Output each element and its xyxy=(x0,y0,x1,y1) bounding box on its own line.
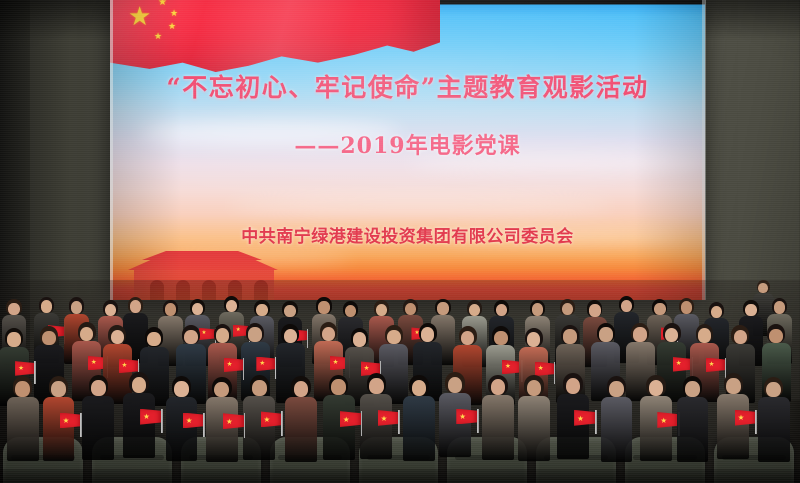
flag-cloth: ★ xyxy=(340,411,362,427)
flag-pole xyxy=(80,413,82,437)
person-head xyxy=(369,378,384,394)
flag-star: ★ xyxy=(91,360,97,367)
person-head xyxy=(8,303,19,315)
flag-cloth: ★ xyxy=(60,413,82,429)
flag-cloth: ★ xyxy=(261,411,283,427)
flag-star: ★ xyxy=(505,364,511,371)
person-head xyxy=(294,381,309,397)
flag-star: ★ xyxy=(18,366,24,373)
person-head xyxy=(469,304,480,316)
flag-cloth: ★ xyxy=(378,410,400,426)
person: ★ xyxy=(557,373,589,458)
flag-star: ★ xyxy=(227,362,233,369)
person-head xyxy=(566,378,581,394)
person-torso xyxy=(7,397,39,462)
flag-star: ★ xyxy=(259,361,265,368)
person-head xyxy=(496,304,507,316)
person xyxy=(482,375,514,460)
flag-cloth: ★ xyxy=(256,357,276,372)
flag-star: ★ xyxy=(538,366,544,373)
flag-pole xyxy=(161,409,163,433)
flag-star-small: ★ xyxy=(170,9,178,18)
flag-star: ★ xyxy=(364,366,370,373)
flag-pole xyxy=(398,410,400,434)
person-head xyxy=(621,300,632,312)
flag-cloth: ★ xyxy=(119,359,139,374)
person: ★ xyxy=(43,376,75,461)
flag-cloth: ★ xyxy=(140,409,162,425)
person xyxy=(518,375,550,460)
person-head xyxy=(71,301,82,313)
person xyxy=(601,376,633,461)
flag-cloth: ★ xyxy=(15,361,35,376)
person-head xyxy=(562,303,573,315)
person-head xyxy=(491,379,506,395)
flag-cloth: ★ xyxy=(574,410,596,426)
handheld-chinese-flag: ★ xyxy=(574,410,603,434)
screen-organization: 中共南宁绿港建设投资集团有限公司委员会 xyxy=(110,222,705,247)
person-head xyxy=(216,328,229,343)
person-head xyxy=(15,381,30,397)
flag-pole xyxy=(361,411,363,435)
flag-star: ★ xyxy=(63,417,70,424)
person-head xyxy=(165,303,176,315)
person-head xyxy=(7,332,20,347)
flag-star: ★ xyxy=(226,418,233,425)
flag-star: ★ xyxy=(333,360,339,367)
person-head xyxy=(649,380,664,396)
flag-cloth: ★ xyxy=(223,413,245,429)
flag-cloth: ★ xyxy=(535,362,555,377)
flag-pole xyxy=(755,410,757,434)
person-head xyxy=(494,331,507,346)
photo-scene: ★ ★ ★ ★ ★ “不忘初心、牢记使命”主题教育观影活动 ——2019年电影党… xyxy=(0,0,800,483)
flag-star: ★ xyxy=(186,417,193,424)
person-head xyxy=(527,380,542,396)
flag-pole xyxy=(595,410,597,434)
person-head xyxy=(609,381,624,397)
person-head xyxy=(147,332,160,347)
person: ★ xyxy=(640,375,672,460)
flag-cloth: ★ xyxy=(735,410,757,426)
flag-star-small: ★ xyxy=(158,0,167,8)
person xyxy=(677,376,709,461)
person-head xyxy=(412,380,427,396)
aisle-floor xyxy=(0,469,800,483)
person-head xyxy=(214,382,229,398)
person xyxy=(758,377,790,462)
person-head xyxy=(345,305,356,317)
flag-pole xyxy=(307,329,308,348)
flag-cloth: ★ xyxy=(706,358,726,373)
person-torso xyxy=(518,396,550,461)
person-head xyxy=(41,300,52,312)
flag-star: ★ xyxy=(676,361,682,368)
person: ★ xyxy=(717,373,749,458)
flag-star: ★ xyxy=(343,416,350,423)
person-head xyxy=(448,377,463,393)
person-head xyxy=(42,331,55,346)
person-head xyxy=(174,381,189,397)
person-head xyxy=(437,302,448,314)
projection-screen: ★ ★ ★ ★ ★ “不忘初心、牢记使命”主题教育观影活动 ——2019年电影党… xyxy=(110,0,705,300)
person-torso xyxy=(677,397,709,462)
person-head xyxy=(284,329,297,344)
flag-star: ★ xyxy=(264,416,271,423)
person-head xyxy=(654,303,665,315)
person-head xyxy=(599,327,612,342)
person-torso xyxy=(758,397,790,462)
flag-pole xyxy=(477,409,479,433)
person-head xyxy=(111,330,124,345)
flag-star-large: ★ xyxy=(128,4,151,30)
flag-star: ★ xyxy=(381,415,388,422)
person-torso xyxy=(285,397,317,462)
screen-edge-right xyxy=(702,0,706,300)
person-head xyxy=(685,381,700,397)
person xyxy=(403,375,435,460)
person-head xyxy=(681,301,692,313)
person-head xyxy=(698,328,711,343)
flag-star: ★ xyxy=(143,413,150,420)
person-head xyxy=(248,327,261,342)
person-head xyxy=(132,377,147,393)
person-head xyxy=(421,327,434,342)
handheld-chinese-flag: ★ xyxy=(340,411,369,435)
person-head xyxy=(589,304,600,316)
person-head xyxy=(769,329,782,344)
flag-cloth: ★ xyxy=(224,358,244,373)
person-head xyxy=(711,306,722,318)
person-torso xyxy=(403,396,435,461)
person-head xyxy=(758,283,768,293)
person-head xyxy=(353,332,366,347)
flag-star: ★ xyxy=(122,363,128,370)
flag-star: ★ xyxy=(738,414,745,421)
flag-star-small: ★ xyxy=(154,32,162,41)
person xyxy=(7,376,39,461)
screen-edge-left xyxy=(110,0,113,300)
flag-pole xyxy=(281,411,283,435)
person-head xyxy=(387,330,400,345)
person-head xyxy=(252,380,267,396)
person-head xyxy=(331,379,346,395)
person-head xyxy=(130,300,141,312)
flag-cloth: ★ xyxy=(183,413,205,429)
person-head xyxy=(726,378,741,394)
person-head xyxy=(318,301,329,313)
person-head xyxy=(284,305,295,317)
person-head xyxy=(405,303,416,315)
screen-subtitle: ——2019年电影党课 xyxy=(110,128,705,160)
person-head xyxy=(563,329,576,344)
person: ★ xyxy=(123,372,155,457)
person-head xyxy=(322,327,335,342)
person-head xyxy=(532,303,543,315)
flag-star: ★ xyxy=(660,417,667,424)
person: ★ xyxy=(206,377,238,462)
person-torso xyxy=(482,395,514,460)
person: ★ xyxy=(166,376,198,461)
person-head xyxy=(734,330,747,345)
flag-star-small: ★ xyxy=(168,22,176,31)
cloud-wisp xyxy=(230,196,610,214)
flag-cloth: ★ xyxy=(456,409,478,425)
person-head xyxy=(633,327,646,342)
person: ★ xyxy=(439,372,471,457)
person-head xyxy=(774,301,785,313)
flag-star: ★ xyxy=(577,415,584,422)
handheld-chinese-flag: ★ xyxy=(456,409,485,433)
flag-pole xyxy=(244,413,246,437)
flag-pole xyxy=(554,362,556,384)
person xyxy=(285,376,317,461)
chinese-flag-graphic: ★ ★ ★ ★ ★ xyxy=(110,0,440,72)
person-head xyxy=(91,380,106,396)
person-torso xyxy=(601,397,633,462)
flag-star: ★ xyxy=(709,362,715,369)
person-head xyxy=(51,381,66,397)
person-head xyxy=(745,304,756,316)
person-head xyxy=(766,382,781,398)
person: ★ xyxy=(323,375,355,460)
person-head xyxy=(527,332,540,347)
handheld-chinese-flag: ★ xyxy=(223,413,252,437)
person-head xyxy=(256,304,267,316)
handheld-chinese-flag: ★ xyxy=(60,413,89,437)
flag-star: ★ xyxy=(459,413,466,420)
person-head xyxy=(184,330,197,345)
screen-title: “不忘初心、牢记使命”主题教育观影活动 xyxy=(110,68,705,104)
